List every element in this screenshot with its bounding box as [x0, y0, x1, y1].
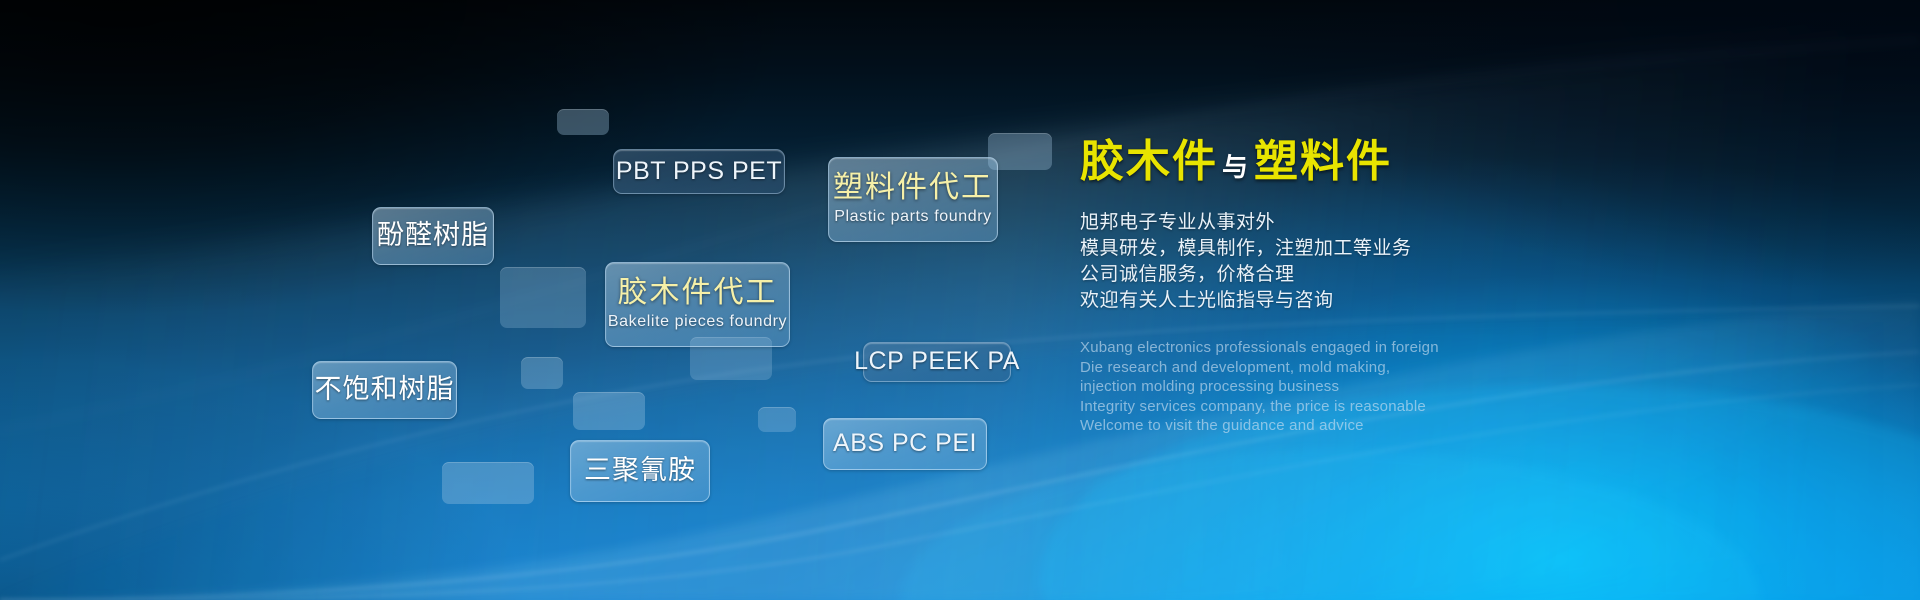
headline-part-1: 胶木件 — [1080, 137, 1218, 186]
description-line-en: Welcome to visit the guidance and advice — [1080, 416, 1780, 436]
description-english: Xubang electronics professionals engaged… — [1080, 338, 1780, 436]
description-chinese: 旭邦电子专业从事对外模具研发，模具制作，注塑加工等业务公司诚信服务，价格合理欢迎… — [1080, 210, 1780, 314]
material-chip-phenolic[interactable]: 酚醛树脂 — [372, 207, 494, 265]
headline-part-2: 塑料件 — [1254, 137, 1392, 186]
feature-chip-subtitle: Bakelite pieces foundry — [608, 313, 787, 331]
material-chip-label: 不饱和树脂 — [315, 375, 455, 405]
description-line-cn: 欢迎有关人士光临指导与咨询 — [1080, 288, 1780, 314]
headline-connector: 与 — [1218, 152, 1254, 182]
abbreviation-chip-lcp-peek-pa[interactable]: LCP PEEK PA — [863, 342, 1011, 382]
decorative-rect — [500, 267, 586, 328]
abbreviation-chip-label: LCP PEEK PA — [854, 348, 1020, 376]
decorative-rect — [521, 357, 563, 389]
decorative-rect — [758, 407, 796, 432]
description-line-en: injection molding processing business — [1080, 377, 1780, 397]
abbreviation-chip-abs-pc-pei[interactable]: ABS PC PEI — [823, 418, 987, 470]
material-chip-unsaturated[interactable]: 不饱和树脂 — [312, 361, 457, 419]
banner-copy: 胶木件与塑料件 旭邦电子专业从事对外模具研发，模具制作，注塑加工等业务公司诚信服… — [1080, 140, 1780, 436]
feature-chip-plastic[interactable]: 塑料件代工Plastic parts foundry — [828, 157, 998, 242]
feature-chip-title: 胶木件代工 — [618, 276, 778, 309]
decorative-rect — [442, 462, 534, 504]
description-line-cn: 模具研发，模具制作，注塑加工等业务 — [1080, 236, 1780, 262]
page-title: 胶木件与塑料件 — [1080, 140, 1780, 184]
abbreviation-chip-pbt-pps-pet[interactable]: PBT PPS PET — [613, 149, 785, 194]
feature-chip-subtitle: Plastic parts foundry — [834, 208, 992, 226]
abbreviation-chip-label: ABS PC PEI — [833, 430, 977, 458]
material-chip-melamine[interactable]: 三聚氰胺 — [570, 440, 710, 502]
description-line-cn: 公司诚信服务，价格合理 — [1080, 262, 1780, 288]
abbreviation-chip-label: PBT PPS PET — [616, 158, 782, 186]
description-line-en: Xubang electronics professionals engaged… — [1080, 338, 1780, 358]
material-chip-label: 酚醛树脂 — [377, 221, 489, 251]
description-line-en: Die research and development, mold makin… — [1080, 358, 1780, 378]
decorative-rect — [573, 392, 645, 430]
feature-chip-title: 塑料件代工 — [833, 171, 993, 204]
description-line-en: Integrity services company, the price is… — [1080, 397, 1780, 417]
description-line-cn: 旭邦电子专业从事对外 — [1080, 210, 1780, 236]
material-chip-label: 三聚氰胺 — [584, 456, 696, 486]
feature-chip-bakelite[interactable]: 胶木件代工Bakelite pieces foundry — [605, 262, 790, 347]
hero-banner: 酚醛树脂不饱和树脂三聚氰胺PBT PPS PETLCP PEEK PAABS P… — [0, 0, 1920, 600]
decorative-rect — [557, 109, 609, 135]
